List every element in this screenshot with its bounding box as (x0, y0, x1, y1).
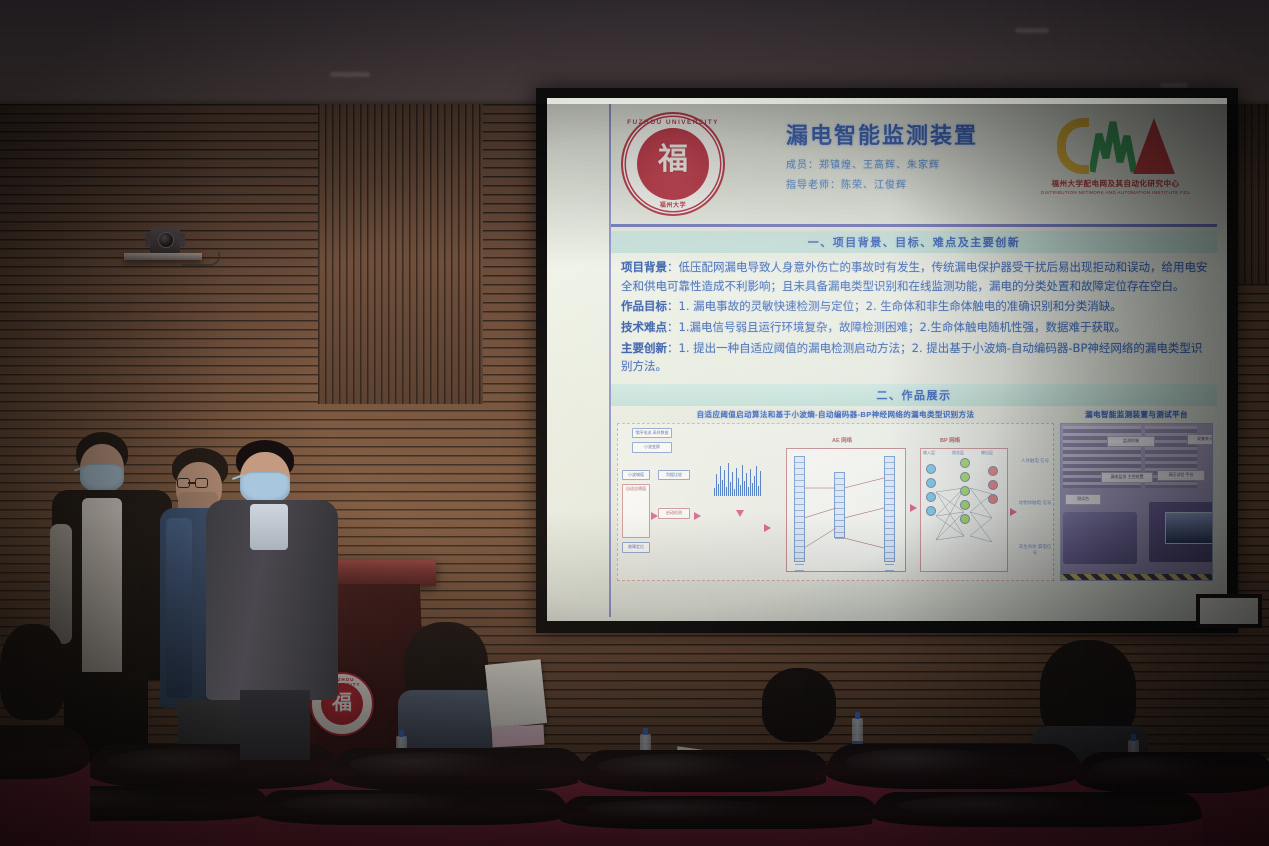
lecture-hall-photo: FUZHOU UNIVERSITY 福 福州大学 漏电智能监测装置 成员：郑镇煌… (0, 0, 1269, 846)
auditorium-seat (0, 726, 90, 846)
device-photo: 监测终端 采集单元 漏电监测 主控装置 高压试验 平台 测试台 (1060, 423, 1213, 581)
showcase-left-caption: 自适应阈值启动算法和基于小波熵-自动编码器-BP神经网络的漏电类型识别方法 (617, 409, 1054, 420)
header-divider (611, 224, 1217, 227)
section-1-body: 项目背景：低压配网漏电导致人身意外伤亡的事故时有发生，传统漏电保护器受干扰后易出… (611, 253, 1217, 380)
dnai-logo-icon (1028, 110, 1203, 174)
algorithm-diagram: 零序电流 采样数据 小波变换 小波熵值 自适应阈值 故障定位 判据比较 (617, 423, 1054, 581)
institute-logo: 福州大学配电网及其自动化研究中心 DISTRIBUTION NETWORK AN… (1028, 110, 1203, 218)
paragraph-innovations: 主要创新：1. 提出一种自适应阈值的漏电检测启动方法；2. 提出基于小波熵-自动… (621, 339, 1209, 376)
denim-lapel (166, 518, 192, 698)
handout-papers (492, 725, 545, 748)
paragraph-text: ：1. 漏电事故的灵敏快速检测与定位；2. 生命体和非生命体触电的准确识别和分类… (667, 299, 1122, 313)
ceiling-light (1015, 28, 1049, 33)
section-2-body: 自适应阈值启动算法和基于小波熵-自动编码器-BP神经网络的漏电类型识别方法 零序… (611, 406, 1217, 587)
laptop-icon (1165, 512, 1213, 544)
output-label: 动物体触电 信号 (1018, 500, 1052, 506)
output-label: 非生命体 漏电信号 (1018, 544, 1052, 556)
flow-box: 小波变换 (632, 442, 672, 452)
photo-label: 高压试验 平台 (1157, 470, 1205, 481)
paragraph-label: 项目背景 (621, 260, 667, 274)
test-vehicle (1063, 512, 1137, 564)
flow-box: 启动检测 (658, 508, 690, 518)
shirt (82, 498, 122, 678)
bp-network-title: BP 网络 (940, 436, 960, 444)
auditorium-seat (258, 790, 568, 846)
audience-shoulders (398, 690, 498, 750)
photo-label: 采集单元 (1187, 434, 1213, 445)
audience-head (762, 668, 836, 742)
paragraph-label: 主要创新 (621, 341, 667, 355)
presenter-3 (206, 440, 338, 760)
projection-screen: FUZHOU UNIVERSITY 福 福州大学 漏电智能监测装置 成员：郑镇煌… (536, 88, 1238, 633)
seal-arc-top: FUZHOU UNIVERSITY (623, 119, 723, 126)
institute-name-en: DISTRIBUTION NETWORK AND AUTOMATION INST… (1028, 190, 1203, 195)
camera-cable (182, 252, 220, 266)
slide-title: 漏电智能监测装置 (786, 118, 978, 150)
photo-label: 测试台 (1065, 494, 1101, 505)
paragraph-difficulties: 技术难点：1.漏电信号弱且运行环境复杂，故障检测困难；2.生命体触电随机性强，数… (621, 318, 1209, 337)
paragraph-background: 项目背景：低压配网漏电导致人身意外伤亡的事故时有发生，传统漏电保护器受干扰后易出… (621, 258, 1209, 295)
paragraph-goals: 作品目标：1. 漏电事故的灵敏快速检测与定位；2. 生命体和非生命体触电的准确识… (621, 297, 1209, 316)
ae-network-title: AE 网络 (832, 436, 852, 444)
camera-lens-icon (158, 232, 174, 248)
seal-character: 福 (623, 145, 723, 175)
collar-shirt (250, 504, 288, 550)
face-mask (80, 464, 124, 492)
auditorium-seat (872, 792, 1202, 846)
flow-box: 故障定位 (622, 542, 650, 552)
flow-box: 零序电流 采样数据 (632, 428, 672, 438)
fuzhou-university-seal-icon: FUZHOU UNIVERSITY 福 福州大学 (621, 112, 725, 216)
wall-picture (1196, 594, 1262, 628)
paragraph-label: 技术难点 (621, 320, 667, 334)
projected-slide: FUZHOU UNIVERSITY 福 福州大学 漏电智能监测装置 成员：郑镇煌… (547, 98, 1227, 621)
seal-arc-bottom: 福州大学 (623, 200, 723, 209)
paragraph-label: 作品目标 (621, 299, 667, 313)
ptz-camera-icon (150, 227, 180, 253)
wall-panel-vertical (318, 104, 483, 404)
paragraph-text: ：1.漏电信号弱且运行环境复杂，故障检测困难；2.生命体触电随机性强，数据难于获… (667, 320, 1126, 334)
institute-name-cn: 福州大学配电网及其自动化研究中心 (1028, 178, 1203, 189)
flow-box: 小波熵值 (622, 470, 650, 480)
paragraph-text: ：1. 提出一种自适应阈值的漏电检测启动方法；2. 提出基于小波熵-自动编码器-… (621, 341, 1202, 374)
jacket-sleeve (50, 524, 72, 644)
slide-members: 成员：郑镇煌、王高辉、朱家辉 (786, 156, 940, 171)
presenter-1 (52, 432, 172, 772)
showcase-right: 漏电智能监测装置与测试平台 监测终端 采集单元 漏电监测 主控装置 高压试验 平… (1060, 409, 1213, 587)
hazard-stripe (1061, 574, 1212, 580)
trousers (240, 690, 310, 760)
showcase-right-caption: 漏电智能监测装置与测试平台 (1060, 409, 1213, 420)
photo-label: 漏电监测 主控装置 (1101, 472, 1153, 483)
audience-head (0, 624, 66, 720)
slide-advisor: 指导老师：陈荣、江俊辉 (786, 176, 907, 191)
output-label: 人体触电 信号 (1018, 458, 1052, 464)
slide-header: FUZHOU UNIVERSITY 福 福州大学 漏电智能监测装置 成员：郑镇煌… (611, 104, 1217, 224)
photo-label: 监测终端 (1107, 436, 1155, 447)
flow-box: 自适应阈值 (622, 484, 650, 538)
handout-papers (485, 659, 547, 729)
waveform-icon (1090, 118, 1136, 174)
flow-box: 判据比较 (658, 470, 690, 480)
section-heading-1: 一、项目背景、目标、难点及主要创新 (611, 231, 1217, 253)
paragraph-text: ：低压配网漏电导致人身意外伤亡的事故时有发生，传统漏电保护器受干扰后易出现拒动和… (621, 260, 1208, 293)
auditorium-seat (560, 796, 880, 846)
ae-connections (786, 448, 904, 570)
section-heading-2: 二、作品展示 (611, 384, 1217, 406)
showcase-left: 自适应阈值启动算法和基于小波熵-自动编码器-BP神经网络的漏电类型识别方法 零序… (617, 409, 1054, 587)
ceiling-light (330, 72, 370, 77)
